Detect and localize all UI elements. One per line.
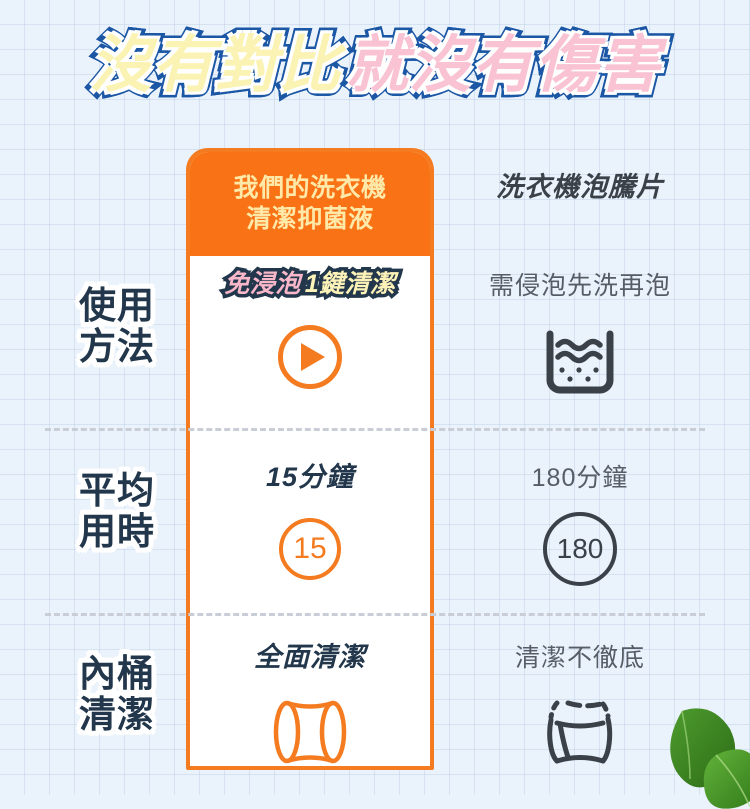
- headline-part-2-fill: 就沒有傷害: [346, 31, 661, 100]
- rival-product-title: 洗衣機泡騰片: [440, 165, 720, 204]
- our-product-title-line2: 清潔抑菌液: [233, 204, 386, 235]
- drum-clean-icon: [267, 694, 353, 770]
- cell-ours-time: 15分鐘 15: [186, 455, 434, 580]
- play-triangle-icon: [301, 343, 325, 371]
- headline-part-1: 沒有對比 沒有對比 沒有對比: [89, 26, 341, 106]
- row-label-drum-line2: 清潔: [52, 694, 182, 735]
- drum-partial-icon: [537, 694, 623, 770]
- row-label-time: 平均 用時: [52, 470, 182, 552]
- cell-rival-usage: 需侵泡先洗再泡: [440, 266, 720, 400]
- ours-minutes-circle-icon: 15: [279, 518, 341, 580]
- row-separator-2: [45, 613, 705, 616]
- our-product-title: 我們的洗衣機 清潔抑菌液: [233, 173, 386, 235]
- rival-minutes-circle-icon: 180: [543, 512, 617, 586]
- soak-basin-icon: [542, 328, 618, 400]
- row-label-drum-line1: 內桶: [52, 653, 182, 694]
- headline-part-1-fill: 沒有對比: [89, 31, 341, 100]
- comparison-table: 我們的洗衣機 清潔抑菌液 洗衣機泡騰片 使用 方法 免浸泡 1鍵清潔 需侵泡先洗…: [0, 140, 750, 780]
- headline-part-2: 就沒有傷害 就沒有傷害 就沒有傷害: [346, 26, 661, 106]
- rival-time-text: 180分鐘: [440, 458, 720, 494]
- row-label-time-line1: 平均: [52, 470, 182, 511]
- badge-one-key-clean: 1鍵清潔: [305, 264, 396, 300]
- rival-drum-text: 清潔不徹底: [440, 638, 720, 674]
- play-icon[interactable]: [278, 325, 342, 389]
- ours-time-text: 15分鐘: [186, 455, 434, 494]
- page-title: 沒有對比 沒有對比 沒有對比 就沒有傷害 就沒有傷害 就沒有傷害: [0, 26, 750, 106]
- row-label-time-line2: 用時: [52, 511, 182, 552]
- row-label-usage: 使用 方法: [52, 285, 182, 367]
- usage-badges: 免浸泡 1鍵清潔: [186, 264, 434, 300]
- row-separator-1: [45, 428, 705, 431]
- ours-drum-text: 全面清潔: [186, 635, 434, 674]
- cell-rival-drum: 清潔不徹底: [440, 638, 720, 770]
- cell-ours-usage: 免浸泡 1鍵清潔: [186, 264, 434, 389]
- badge-no-soak: 免浸泡: [224, 264, 301, 300]
- row-label-drum: 內桶 清潔: [52, 653, 182, 735]
- our-product-header: 我們的洗衣機 清潔抑菌液: [190, 152, 430, 256]
- cell-rival-time: 180分鐘 180: [440, 458, 720, 586]
- rival-usage-text: 需侵泡先洗再泡: [440, 266, 720, 302]
- row-label-usage-line1: 使用: [52, 285, 182, 326]
- cell-ours-drum: 全面清潔: [186, 635, 434, 770]
- our-product-title-line1: 我們的洗衣機: [233, 173, 386, 204]
- row-label-usage-line2: 方法: [52, 326, 182, 367]
